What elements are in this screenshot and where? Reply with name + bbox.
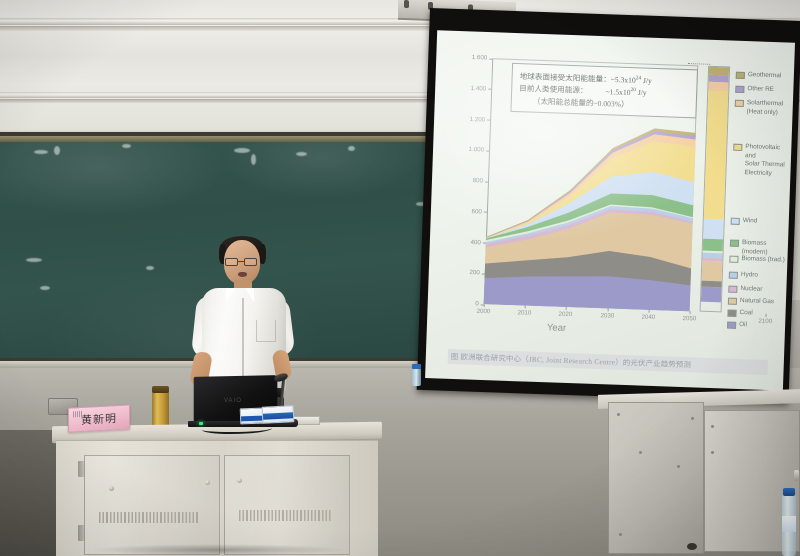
legend-label: Coal <box>739 309 752 318</box>
x-tick-label: 2100 <box>758 314 772 325</box>
placard-name-text: 黄新明 <box>81 410 117 428</box>
column-segment <box>704 90 728 219</box>
annotation-line2-label: 目前人类使用能源： <box>519 84 588 95</box>
legend-item: Biomass (trad.) <box>729 255 785 266</box>
legend-item: Natural Gas <box>728 297 774 307</box>
legend-swatch <box>730 240 739 247</box>
legend-label: Natural Gas <box>740 297 774 307</box>
legend-label: Photovoltaic and Solar Thermal Electrici… <box>744 143 785 179</box>
legend-item: Wind <box>731 217 758 227</box>
tissue-box <box>240 408 265 425</box>
x-tick-label: 2030 <box>600 308 614 319</box>
presenter-mouth <box>238 272 247 277</box>
shirt-pocket <box>256 320 276 342</box>
water-bottle <box>412 368 421 386</box>
legend-item: Coal <box>727 309 752 319</box>
bottle-label <box>782 516 796 532</box>
lecture-hall-photo: Primary Energy Use [EJ/a] Year 020040060… <box>0 0 800 556</box>
legend-swatch <box>735 100 744 107</box>
legend-swatch <box>729 256 738 263</box>
slide-annotation-box: 地球表面接受太阳能能量：~5.3x1024 J/y 目前人类使用能源：~1.5x… <box>510 63 698 119</box>
screen-surface: Primary Energy Use [EJ/a] Year 020040060… <box>425 30 795 390</box>
legend-item: Other RE <box>735 85 774 95</box>
column-segment <box>701 287 721 302</box>
column-segment <box>703 218 724 238</box>
legend-label: Biomass (trad.) <box>741 255 785 265</box>
legend-label: Hydro <box>741 271 758 280</box>
legend-label: Solarthermal (Heat only) <box>746 99 783 118</box>
name-placard: 黄新明 <box>68 404 130 432</box>
lectern-body <box>56 440 378 556</box>
legend-swatch <box>736 72 745 79</box>
annotation-line2-value: ~1.5x10 <box>587 86 630 96</box>
legend-label: Oil <box>739 321 747 330</box>
bottle-cap <box>783 488 795 496</box>
cabinet-door[interactable] <box>84 455 220 555</box>
chart-legend: GeothermalOther RESolarthermal (Heat onl… <box>736 69 794 71</box>
legend-item: Geothermal <box>736 71 782 81</box>
legend-swatch <box>731 218 740 225</box>
eyeglasses-icon <box>244 258 257 266</box>
legend-swatch <box>729 272 738 279</box>
legend-label: Wind <box>743 217 758 226</box>
legend-label: Geothermal <box>748 71 782 81</box>
lectern-cabinet: VAIO 黄新明 <box>52 424 382 556</box>
tissue-box <box>262 405 295 424</box>
legend-swatch <box>733 144 742 151</box>
cabinet-handle[interactable] <box>794 470 799 481</box>
x-tick-label: 2020 <box>559 307 573 318</box>
eyeglasses-icon <box>225 258 238 266</box>
year-2100-column <box>700 66 731 313</box>
presentation-slide: Primary Energy Use [EJ/a] Year 020040060… <box>425 30 795 390</box>
projection-screen: Primary Energy Use [EJ/a] Year 020040060… <box>416 8 800 411</box>
legend-item: Solarthermal (Heat only) <box>734 99 783 118</box>
equipment-cabinet <box>598 392 800 556</box>
legend-item: Hydro <box>729 271 758 281</box>
legend-swatch <box>735 86 744 93</box>
thermos-bottle <box>152 391 169 429</box>
cabinet-side-panel <box>608 402 704 554</box>
annotation-line1-value: ~5.3x10 <box>611 75 636 85</box>
x-tick-label: 2000 <box>477 304 491 315</box>
x-tick-label: 2050 <box>682 311 696 322</box>
legend-item: Oil <box>727 321 747 330</box>
y-tick-label: 800 <box>473 177 489 185</box>
y-tick-label: 1.600 <box>472 54 493 62</box>
chart-x-axis-label: Year <box>547 322 567 334</box>
slide-caption: 图 欧洲联合研究中心（JRC, Joint Research Centre）的光… <box>448 349 768 375</box>
column-segment <box>703 238 723 252</box>
legend-label: Nuclear <box>740 285 762 294</box>
legend-label: Other RE <box>747 85 774 95</box>
y-tick-label: 600 <box>471 208 487 216</box>
legend-swatch <box>728 298 737 305</box>
legend-swatch <box>728 286 737 293</box>
legend-item: Photovoltaic and Solar Thermal Electrici… <box>732 143 785 179</box>
y-tick-label: 1.200 <box>470 115 491 123</box>
y-tick-label: 1.400 <box>471 85 492 93</box>
cabinet-door[interactable] <box>224 455 350 555</box>
legend-swatch <box>727 310 736 317</box>
chart-y-axis-label: Primary Energy Use [EJ/a] <box>437 30 455 68</box>
column-segment <box>702 260 723 281</box>
laptop-logo: VAIO <box>224 398 242 404</box>
x-tick-label: 2010 <box>518 305 532 316</box>
university-logo-icon <box>73 411 83 418</box>
y-tick-label: 200 <box>469 269 485 277</box>
legend-swatch <box>727 322 736 329</box>
x-tick-label: 2040 <box>641 310 655 321</box>
legend-item: Nuclear <box>728 285 762 295</box>
y-tick-label: 400 <box>470 239 486 247</box>
y-tick-label: 1.000 <box>468 146 489 154</box>
